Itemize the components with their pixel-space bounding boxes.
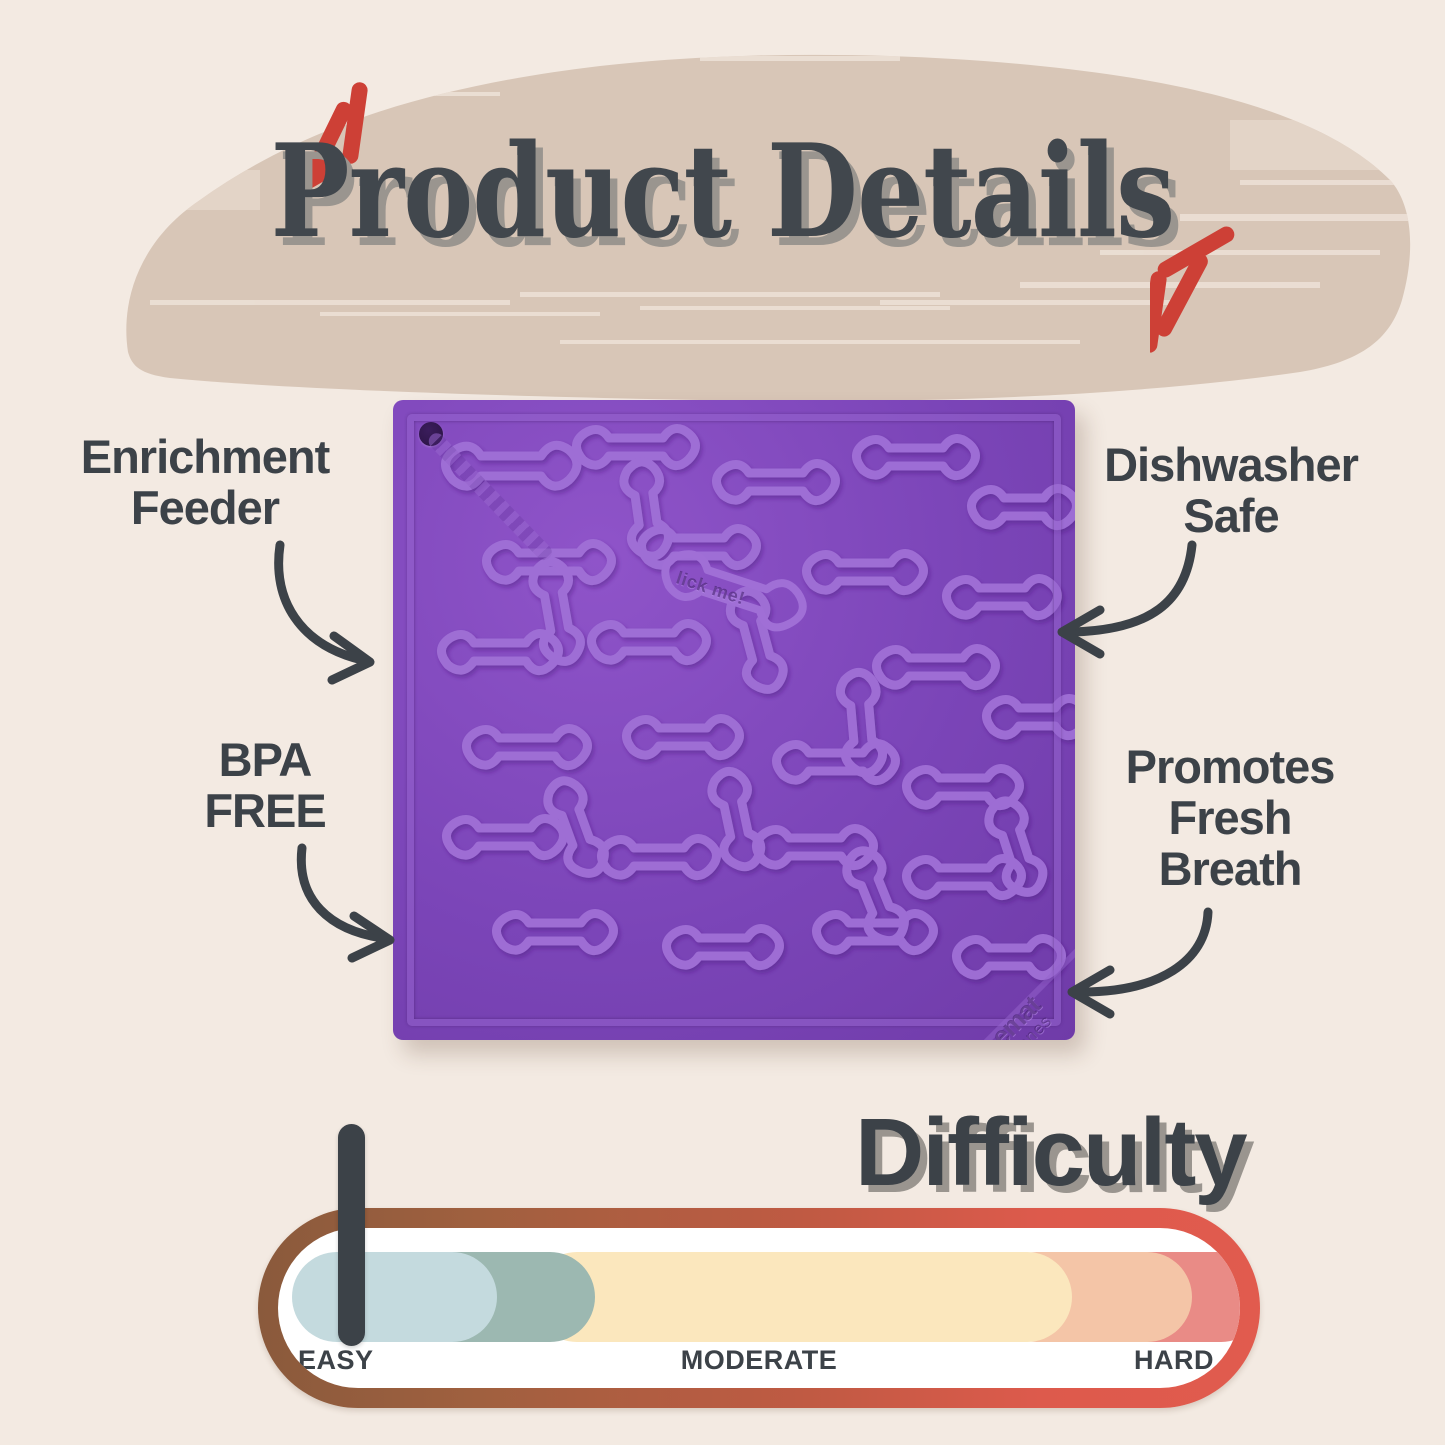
difficulty-label-hard: HARD — [1134, 1345, 1214, 1376]
difficulty-bands — [292, 1252, 1226, 1342]
difficulty-band-moderate — [532, 1252, 1072, 1342]
difficulty-heading: Difficulty — [855, 1098, 1246, 1208]
infographic-canvas: Product Details — [0, 0, 1445, 1445]
difficulty-marker[interactable] — [338, 1124, 365, 1346]
difficulty-meter-track: EASY MODERATE HARD — [278, 1228, 1240, 1388]
difficulty-label-moderate: MODERATE — [278, 1345, 1240, 1376]
difficulty-band-easy — [292, 1252, 497, 1342]
difficulty-meter: EASY MODERATE HARD — [258, 1208, 1260, 1408]
